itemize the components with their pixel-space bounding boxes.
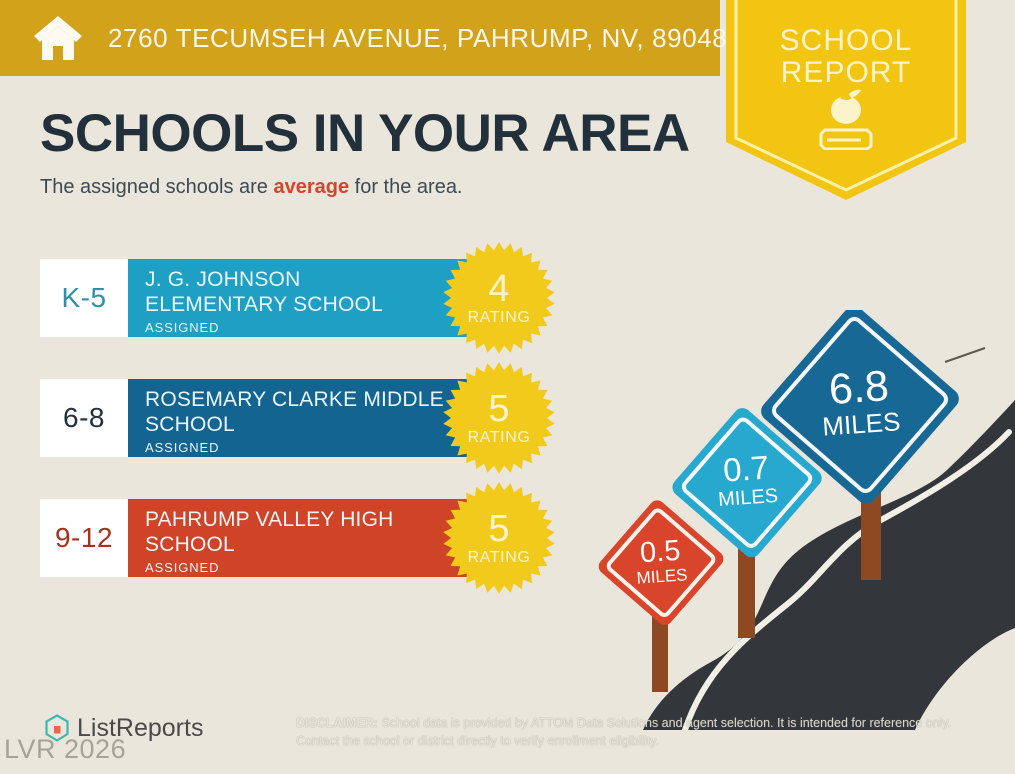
school-name: PAHRUMP VALLEY HIGH SCHOOL	[145, 508, 445, 558]
sign-value: 0.7	[722, 448, 770, 488]
disclaimer-label: DISCLAIMER:	[296, 716, 378, 730]
sign-unit: MILES	[821, 406, 901, 441]
home-icon	[32, 14, 84, 62]
grade-range-label: 9-12	[55, 522, 113, 554]
rating-label: RATING	[468, 550, 531, 566]
school-name: J. G. JOHNSON ELEMENTARY SCHOOL	[145, 268, 445, 318]
page-subtitle: The assigned schools are average for the…	[40, 176, 463, 199]
disclaimer: DISCLAIMER: School data is provided by A…	[296, 714, 968, 750]
road-illustration: 6.8 MILES 0.7 MILES	[585, 310, 1015, 730]
grade-range-label: 6-8	[63, 402, 105, 434]
grade-range-label: K-5	[61, 282, 106, 314]
apple-and-book-icon	[809, 88, 883, 150]
school-report-infographic: 2760 TECUMSEH AVENUE, PAHRUMP, NV, 89048…	[0, 0, 1015, 774]
grade-range-box: 9-12	[40, 499, 128, 577]
badge-title-line-1: SCHOOL	[726, 26, 966, 56]
rating-label: RATING	[468, 430, 531, 446]
disclaimer-text: School data is provided by ATTOM Data So…	[296, 716, 951, 748]
school-rating-badge: 5 RATING	[443, 362, 555, 474]
page-title: SCHOOLS IN YOUR AREA	[40, 106, 690, 162]
school-rating-badge: 5 RATING	[443, 482, 555, 594]
property-address: 2760 TECUMSEH AVENUE, PAHRUMP, NV, 89048	[108, 23, 727, 54]
grade-range-box: K-5	[40, 259, 128, 337]
sign-wire	[945, 348, 985, 362]
watermark-text: LVR 2026	[4, 736, 126, 763]
subtitle-accent: average	[273, 176, 349, 198]
school-rating-badge: 4 RATING	[443, 242, 555, 354]
address-header-bar: 2760 TECUMSEH AVENUE, PAHRUMP, NV, 89048	[0, 0, 720, 76]
rating-value: 4	[488, 270, 509, 308]
subtitle-after: for the area.	[349, 176, 462, 198]
rating-label: RATING	[468, 310, 531, 326]
grade-range-box: 6-8	[40, 379, 128, 457]
school-report-badge: SCHOOL REPORT	[726, 0, 966, 200]
sign-value: 6.8	[827, 362, 890, 414]
sign-unit: MILES	[717, 485, 778, 511]
subtitle-before: The assigned schools are	[40, 176, 273, 198]
sign-unit: MILES	[636, 565, 688, 588]
badge-title-line-2: REPORT	[726, 58, 966, 88]
rating-value: 5	[488, 390, 509, 428]
rating-value: 5	[488, 510, 509, 548]
road-with-distance-signs: 6.8 MILES 0.7 MILES	[585, 310, 1015, 730]
school-name: ROSEMARY CLARKE MIDDLE SCHOOL	[145, 388, 445, 438]
sign-value: 0.5	[639, 535, 681, 570]
